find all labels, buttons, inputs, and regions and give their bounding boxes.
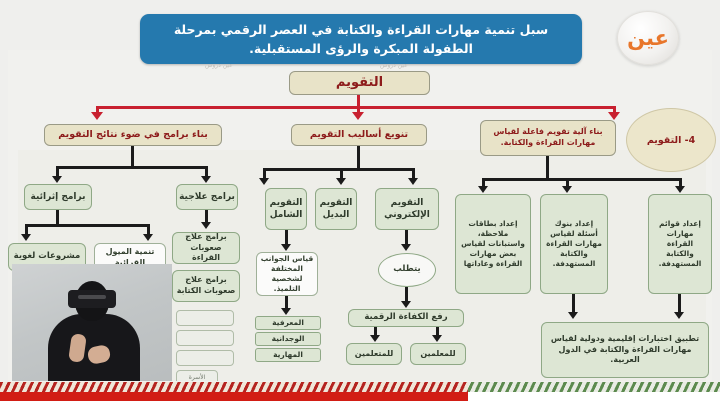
progress-remaining[interactable] [468, 392, 720, 401]
node-elec-connector: يتطلب [378, 253, 436, 287]
interpreter-eyes [78, 295, 106, 299]
node-right-branch: بناء آلية تقويم فاعلة لقياس مهارات القرا… [480, 120, 616, 156]
slide-title-banner: سبل تنمية مهارات القراءة والكتابة في الع… [140, 14, 582, 64]
node-remedial-child-2: برامج علاج صعوبات الكتابة [172, 270, 240, 302]
arrow-elec-t2 [432, 335, 442, 342]
node-left-branch: بناء برامج في ضوء نتائج التقويم [44, 124, 222, 146]
node-right-child-2: إعداد بنوك أسئلة لقياس مهارات القراءة وا… [540, 194, 608, 294]
connector-left-bus [56, 166, 208, 169]
connector-red-bus [96, 106, 616, 109]
connector-middle-bus [263, 168, 415, 171]
connector-left-stub [131, 146, 134, 166]
badge-section-number: 4- التقويم [626, 108, 716, 172]
node-right-child-3: إعداد قوائم مهارات القراءة والكتابة المس… [648, 194, 712, 294]
arrow-right-c1 [675, 186, 685, 193]
arrow-elec-req [401, 301, 411, 308]
connector-right-foot-a [572, 294, 575, 314]
arrow-right-c2 [562, 186, 572, 193]
node-middle-child-shamel: التقويم الشامل [265, 188, 307, 230]
node-elec-target-2: للمعلمين [410, 343, 466, 365]
arrow-enr-c1 [143, 234, 153, 241]
node-remedial: برامج علاجية [176, 184, 238, 210]
slide-title-text: سبل تنمية مهارات القراءة والكتابة في الع… [150, 20, 572, 59]
arrow-right-c3 [478, 186, 488, 193]
connector-right-foot-b [678, 294, 681, 314]
arrow-shamel [281, 244, 291, 251]
node-right-child-1: إعداد بطاقات ملاحظة، واستبانات لقياس بعض… [455, 194, 531, 294]
ain-logo: عين [617, 11, 679, 65]
connector-enrichment-bus [25, 224, 150, 227]
node-faded-2 [176, 330, 234, 346]
connector-middle-stub [357, 146, 360, 168]
node-elec-target-1: للمتعلمين [346, 343, 402, 365]
slide-screenshot: سبل تنمية مهارات القراءة والكتابة في الع… [0, 0, 720, 401]
node-elec-requirement: رفع الكفاءة الرقمية [348, 309, 464, 327]
node-shamel-item-3: المهارية [255, 348, 321, 362]
arrow-red-mid [352, 112, 364, 120]
node-shamel-item-1: المعرفية [255, 316, 321, 330]
arrow-left-c1 [201, 176, 211, 183]
arrow-shamel-items [281, 308, 291, 315]
node-root: التقويم [289, 71, 430, 95]
ain-logo-text: عين [627, 26, 669, 50]
arrow-enr-c2 [21, 234, 31, 241]
connector-right-stub [546, 156, 549, 178]
connector-right-bus [482, 178, 682, 181]
node-right-footer: تطبيق اختبارات إقليمية ودولية لقياس مهار… [541, 322, 709, 378]
arrow-left-c2 [52, 176, 62, 183]
arrow-right-foot-b [674, 312, 684, 319]
node-shamel-item-2: الوجدانية [255, 332, 321, 346]
node-remedial-child-1: برامج علاج صعوبات القراءة [172, 232, 240, 264]
arrow-mid-c1 [408, 178, 418, 185]
node-shamel-detail: قياس الجوانب المختلفة لشخصية التلميذ. [256, 252, 318, 296]
arrow-red-left [91, 112, 103, 120]
watermark-right: عين دروس [380, 62, 408, 69]
arrow-mid-c3 [259, 178, 269, 185]
sign-language-video-overlay[interactable] [12, 264, 172, 386]
node-enrichment: برامج إثرائية [24, 184, 92, 210]
progress-played[interactable] [0, 392, 468, 401]
connector-enrichment-stub [56, 210, 59, 224]
interpreter-veil [68, 290, 116, 308]
arrow-right-foot-a [568, 312, 578, 319]
arrow-mid-c2 [336, 178, 346, 185]
arrow-remedial [201, 222, 211, 229]
node-faded-1 [176, 310, 234, 326]
arrow-elec-t1 [370, 335, 380, 342]
watermark-left: عين دروس [205, 62, 233, 69]
node-middle-child-electronic: التقويم الإلكتروني [375, 188, 439, 230]
node-middle-child-badeel: التقويم البديل [315, 188, 357, 230]
node-faded-3 [176, 350, 234, 366]
node-middle-branch: تنويع أساليب التقويم [291, 124, 427, 146]
arrow-red-right [608, 112, 620, 120]
arrow-elec [401, 244, 411, 251]
